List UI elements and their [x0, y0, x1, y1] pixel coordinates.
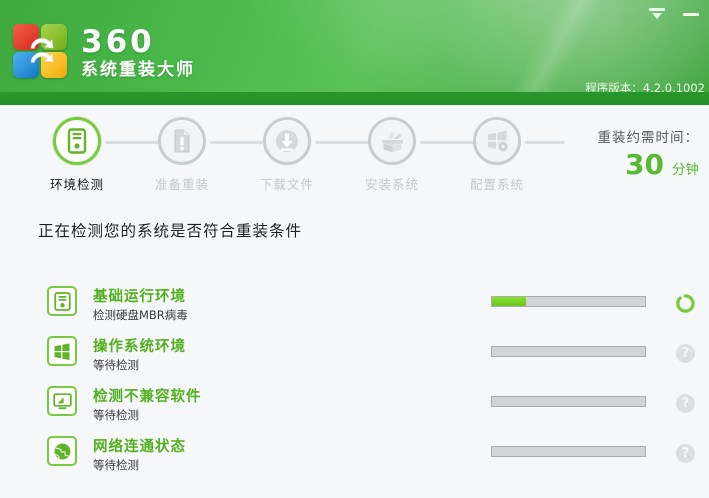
check-title: 基础运行环境 [93, 285, 186, 306]
logo-360-mark [13, 24, 71, 80]
check-icon-box-4 [47, 436, 77, 466]
step-label-5: 配置系统 [452, 174, 542, 193]
check-subtitle: 等待检测 [93, 457, 139, 473]
check-progress-fill [492, 297, 526, 306]
check-status: ? [676, 444, 695, 463]
step-label-1: 环境检测 [32, 174, 122, 193]
step-item-install-system[interactable]: 安装系统 [347, 117, 437, 193]
pc-tower-icon [65, 128, 89, 154]
time-estimate-value: 30 [625, 150, 664, 180]
logo-recycle-arrows-icon [19, 29, 65, 75]
pc-tower-icon [54, 292, 71, 311]
check-icon-box-2 [47, 336, 77, 366]
step-circle-2 [158, 117, 206, 165]
check-row: 检测不兼容软件 等待检测 ? [0, 382, 709, 432]
check-icon-box-3 [47, 386, 77, 416]
check-progress-bar [491, 396, 646, 407]
time-estimate-title: 重装约需时间： [549, 126, 699, 146]
step-circle-4 [368, 117, 416, 165]
app-header: 360 系统重装大师 程序版本：4.2.0.1002 [0, 0, 709, 105]
app-logo: 360 系统重装大师 [13, 24, 195, 81]
logo-text-block: 360 系统重装大师 [81, 24, 195, 81]
logo-subtitle: 系统重装大师 [81, 59, 195, 81]
spinner-icon [675, 293, 696, 314]
step-circle-3 [263, 117, 311, 165]
open-box-icon [380, 129, 405, 153]
question-mark-icon: ? [676, 344, 695, 363]
check-progress-bar [491, 446, 646, 457]
time-estimate-value-row: 30 分钟 [549, 150, 699, 180]
step-circle-1 [53, 117, 101, 165]
check-title: 操作系统环境 [93, 335, 186, 356]
minimize-bar [683, 13, 699, 16]
question-mark-icon: ? [676, 394, 695, 413]
windows-flag-icon [53, 343, 71, 360]
check-status: ? [676, 344, 695, 363]
check-subtitle: 等待检测 [93, 357, 139, 373]
step-label-4: 安装系统 [347, 174, 437, 193]
check-list: 基础运行环境 检测硬盘MBR病毒 操作系统环境 等待检测 ? [0, 282, 709, 482]
check-subtitle: 等待检测 [93, 407, 139, 423]
window-controls [647, 6, 701, 22]
step-circle-5 [473, 117, 521, 165]
check-status: ? [676, 394, 695, 413]
windows-gear-icon [485, 129, 510, 153]
menu-dropdown-icon[interactable] [647, 6, 667, 22]
page-title: 正在检测您的系统是否符合重装条件 [38, 219, 302, 241]
step-label-2: 准备重装 [137, 174, 227, 193]
version-label: 程序版本：4.2.0.1002 [585, 80, 705, 96]
menu-bar [649, 8, 665, 11]
globe-icon [53, 442, 72, 461]
chevron-down-icon [652, 13, 662, 19]
check-status [676, 294, 695, 313]
check-row: 操作系统环境 等待检测 ? [0, 332, 709, 382]
check-title: 检测不兼容软件 [93, 385, 202, 406]
check-icon-box-1 [47, 286, 77, 316]
check-progress-bar [491, 346, 646, 357]
check-subtitle: 检测硬盘MBR病毒 [93, 307, 188, 323]
document-warning-icon [171, 128, 193, 154]
step-item-prepare-reinstall[interactable]: 准备重装 [137, 117, 227, 193]
check-row: 基础运行环境 检测硬盘MBR病毒 [0, 282, 709, 332]
step-item-configure-system[interactable]: 配置系统 [452, 117, 542, 193]
step-label-3: 下载文件 [242, 174, 332, 193]
step-item-environment-check[interactable]: 环境检测 [32, 117, 122, 193]
step-item-download-files[interactable]: 下载文件 [242, 117, 332, 193]
check-title: 网络连通状态 [93, 435, 186, 456]
check-row: 网络连通状态 等待检测 ? [0, 432, 709, 482]
time-estimate-unit: 分钟 [672, 158, 699, 178]
check-progress-bar [491, 296, 646, 307]
logo-title: 360 [81, 26, 195, 59]
minimize-icon[interactable] [681, 6, 701, 22]
monitor-icon [53, 393, 72, 410]
download-arrow-icon [275, 129, 299, 153]
time-estimate: 重装约需时间： 30 分钟 [549, 126, 699, 180]
question-mark-icon: ? [676, 444, 695, 463]
